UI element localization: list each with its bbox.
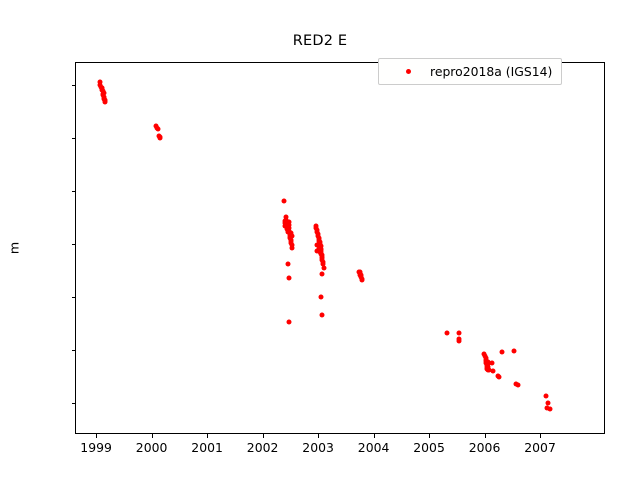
data-point [286, 276, 291, 281]
data-point [318, 244, 323, 249]
data-point [103, 98, 108, 103]
x-tick-mark [429, 434, 430, 438]
data-point [101, 91, 106, 96]
y-tick-mark [72, 244, 76, 245]
data-point [321, 265, 326, 270]
x-tick-mark [540, 434, 541, 438]
data-point [512, 349, 517, 354]
data-point [457, 339, 462, 344]
data-point [320, 312, 325, 317]
data-point [456, 330, 461, 335]
matplotlib-figure: RED2 E m 0.00−0.02−0.04−0.06−0.08−0.10−0… [0, 0, 640, 480]
y-tick-mark [72, 138, 76, 139]
data-point [515, 382, 520, 387]
x-tick-mark [96, 434, 97, 438]
x-tick-label: 2002 [247, 440, 279, 455]
y-axis-label: m [7, 242, 22, 254]
plot-axes [75, 62, 605, 434]
data-point [314, 248, 319, 253]
x-tick-label: 2003 [302, 440, 334, 455]
data-point [490, 368, 495, 373]
x-tick-label: 2005 [413, 440, 445, 455]
y-tick-mark [72, 297, 76, 298]
data-point [359, 273, 364, 278]
x-tick-mark [318, 434, 319, 438]
x-tick-mark [152, 434, 153, 438]
data-point [547, 407, 552, 412]
data-point [158, 136, 163, 141]
data-point [360, 278, 365, 283]
data-point [100, 85, 105, 90]
x-tick-mark [485, 434, 486, 438]
x-tick-mark [207, 434, 208, 438]
x-tick-label: 2001 [191, 440, 223, 455]
data-point [319, 271, 324, 276]
x-tick-mark [263, 434, 264, 438]
data-point [318, 295, 323, 300]
y-tick-mark [72, 403, 76, 404]
scatter-points-layer [76, 63, 604, 433]
x-tick-label: 2006 [469, 440, 501, 455]
y-tick-mark [72, 350, 76, 351]
data-point [287, 319, 292, 324]
legend-marker-wrap [386, 69, 430, 74]
y-tick-mark [72, 85, 76, 86]
data-point [286, 262, 291, 267]
data-point [444, 331, 449, 336]
legend-label: repro2018a (IGS14) [430, 64, 552, 79]
data-point [490, 360, 495, 365]
data-point [543, 393, 548, 398]
data-point [155, 126, 160, 131]
x-tick-label: 2000 [136, 440, 168, 455]
dot-marker-icon [406, 69, 411, 74]
y-tick-mark [72, 191, 76, 192]
data-point [281, 198, 286, 203]
x-tick-label: 1999 [80, 440, 112, 455]
x-tick-label: 2007 [524, 440, 556, 455]
data-point [496, 374, 501, 379]
legend[interactable]: repro2018a (IGS14) [378, 58, 562, 85]
x-tick-label: 2004 [358, 440, 390, 455]
page-title: RED2 E [0, 33, 640, 49]
data-point [290, 246, 295, 251]
x-tick-mark [374, 434, 375, 438]
data-point [282, 218, 287, 223]
data-point [283, 224, 288, 229]
data-point [500, 349, 505, 354]
data-point [289, 233, 294, 238]
